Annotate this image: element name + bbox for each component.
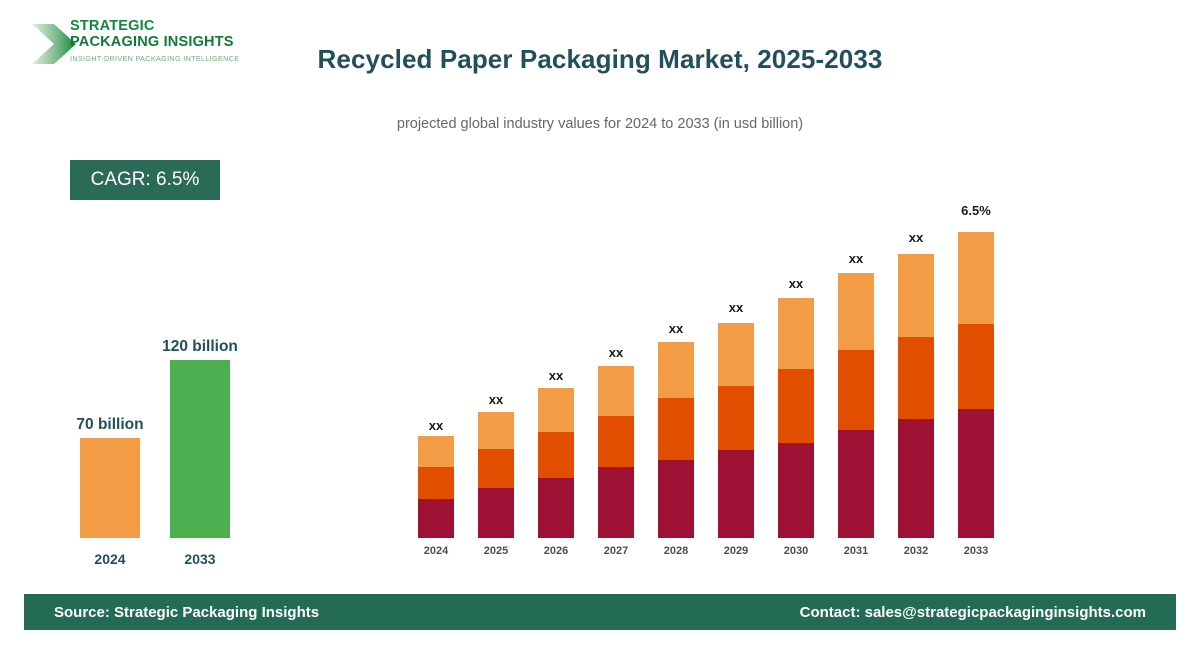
infographic-canvas: STRATEGIC PACKAGING INSIGHTS INSIGHT-DRI…	[0, 0, 1200, 650]
stacked-bar-2024: xx 2024	[418, 436, 454, 538]
yearly-stacked-forecast-chart: xx 2024 xx 2025 xx 2026 xx 2027	[400, 200, 1020, 560]
stacked-bar-total-label-2031: xx	[816, 251, 896, 266]
stacked-segment-top-2024	[418, 436, 454, 467]
stacked-bar-2031: xx 2031	[838, 273, 874, 538]
page-title: Recycled Paper Packaging Market, 2025-20…	[180, 44, 1020, 75]
stacked-segment-top-2026	[538, 388, 574, 432]
stacked-segment-top-2033	[958, 232, 994, 324]
stacked-bar-total-label-2030: xx	[756, 276, 836, 291]
stacked-segment-top-2028	[658, 342, 694, 398]
stacked-segment-middle-2030	[778, 369, 814, 443]
cagr-badge: CAGR: 6.5%	[70, 160, 220, 200]
page-subtitle: projected global industry values for 202…	[180, 116, 1020, 132]
simple-bar-category-2033: 2033	[145, 551, 255, 567]
stacked-bar-2032: xx 2032	[898, 254, 934, 538]
stacked-bar-total-label-2029: xx	[696, 300, 776, 315]
stacked-segment-top-2027	[598, 366, 634, 416]
stacked-bar-2028: xx 2028	[658, 342, 694, 538]
stacked-segment-top-2031	[838, 273, 874, 350]
simple-bar-fill-2033	[170, 360, 230, 538]
stacked-segment-middle-2027	[598, 416, 634, 467]
stacked-bar-2033: 6.5% 2033	[958, 232, 994, 538]
stacked-bar-2025: xx 2025	[478, 412, 514, 538]
brand-name-line-1: STRATEGIC	[70, 18, 260, 34]
footer-bar: Source: Strategic Packaging Insights Con…	[24, 594, 1176, 630]
stacked-bar-total-label-2027: xx	[576, 345, 656, 360]
stacked-segment-middle-2032	[898, 337, 934, 419]
footer-source: Source: Strategic Packaging Insights	[54, 604, 319, 621]
stacked-segment-bottom-2028	[658, 460, 694, 538]
stacked-segment-middle-2028	[658, 398, 694, 460]
stacked-segment-middle-2029	[718, 386, 754, 450]
stacked-segment-top-2025	[478, 412, 514, 449]
stacked-segment-bottom-2029	[718, 450, 754, 538]
stacked-segment-top-2032	[898, 254, 934, 337]
stacked-bar-total-label-2025: xx	[456, 392, 536, 407]
stacked-segment-bottom-2031	[838, 430, 874, 538]
simple-bar-value-2033: 120 billion	[132, 338, 268, 356]
stacked-segment-bottom-2033	[958, 409, 994, 538]
stacked-segment-middle-2026	[538, 432, 574, 478]
stacked-segment-bottom-2030	[778, 443, 814, 538]
simple-bar-value-2024: 70 billion	[42, 416, 178, 434]
stacked-bar-2029: xx 2029	[718, 323, 754, 538]
stacked-segment-top-2030	[778, 298, 814, 369]
stacked-bar-2030: xx 2030	[778, 298, 814, 538]
stacked-segment-middle-2031	[838, 350, 874, 430]
stacked-segment-middle-2025	[478, 449, 514, 488]
footer-contact[interactable]: Contact: sales@strategicpackaginginsight…	[800, 604, 1146, 621]
stacked-segment-top-2029	[718, 323, 754, 386]
simple-bar-fill-2024	[80, 438, 140, 538]
stacked-segment-bottom-2024	[418, 499, 454, 538]
stacked-bar-2027: xx 2027	[598, 366, 634, 538]
stacked-bar-total-label-2032: xx	[876, 230, 956, 245]
start-end-comparison-chart: 70 billion 2024 120 billion 2033	[50, 300, 280, 580]
stacked-bar-2026: xx 2026	[538, 388, 574, 538]
stacked-bar-total-label-2033: 6.5%	[936, 203, 1016, 218]
stacked-segment-bottom-2027	[598, 467, 634, 538]
stacked-segment-bottom-2026	[538, 478, 574, 538]
stacked-bar-category-2033: 2033	[936, 545, 1016, 557]
stacked-segment-bottom-2025	[478, 488, 514, 538]
stacked-segment-bottom-2032	[898, 419, 934, 538]
stacked-bar-total-label-2026: xx	[516, 368, 596, 383]
stacked-segment-middle-2024	[418, 467, 454, 499]
stacked-segment-middle-2033	[958, 324, 994, 409]
stacked-bar-total-label-2028: xx	[636, 321, 716, 336]
stacked-bar-total-label-2024: xx	[396, 418, 476, 433]
